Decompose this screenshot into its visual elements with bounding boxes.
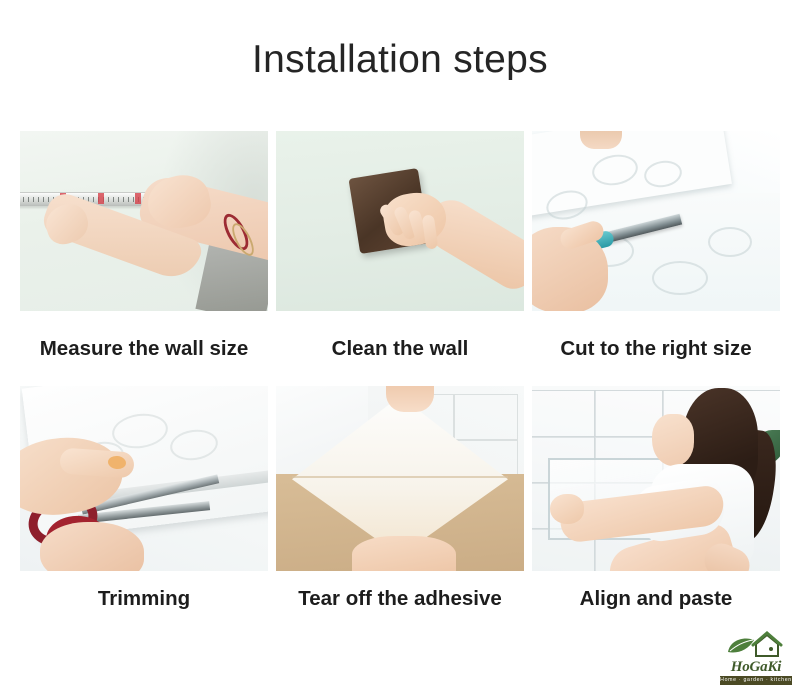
- logo-tagline: Home · garden · kitchen: [720, 676, 792, 685]
- tape-mark-3: [135, 193, 141, 204]
- step-item-5: Tear off the adhesive: [276, 386, 524, 627]
- embossed-motif-4: [652, 261, 708, 295]
- panel-fold-line: [292, 476, 508, 478]
- brand-logo[interactable]: HoGaKi Home · garden · kitchen: [720, 630, 792, 688]
- photo-cut-panel: [532, 131, 780, 311]
- tape-mark-2: [98, 193, 104, 204]
- embossed-motif-5: [708, 227, 752, 257]
- step-caption-2: Clean the wall: [276, 311, 524, 386]
- lower-hand: [40, 522, 144, 571]
- logo-wordmark: HoGaKi: [720, 660, 792, 674]
- leaf-house-icon: [720, 630, 792, 660]
- bottom-hands: [352, 536, 456, 571]
- step-item-6: Align and paste: [532, 386, 780, 627]
- step-item-2: Clean the wall: [276, 131, 524, 386]
- photo-trimming: [20, 386, 268, 571]
- wall-brick-1: [454, 394, 518, 440]
- photo-tear-adhesive: [276, 386, 524, 571]
- page-title: Installation steps: [0, 38, 800, 82]
- step-item-3: Cut to the right size: [532, 131, 780, 386]
- step-caption-6: Align and paste: [532, 571, 780, 627]
- photo-measure-wall: [20, 131, 268, 311]
- installation-steps-grid: Measure the wall size Clean the wall: [20, 131, 780, 386]
- top-hand: [386, 386, 434, 412]
- step-caption-4: Trimming: [20, 571, 268, 627]
- installation-steps-grid-row-2: Trimming Tear off the adhesive: [20, 386, 780, 627]
- step-item-4: Trimming: [20, 386, 268, 627]
- face: [652, 414, 694, 466]
- step-item-1: Measure the wall size: [20, 131, 268, 386]
- step-caption-1: Measure the wall size: [20, 311, 268, 386]
- photo-clean-wall: [276, 131, 524, 311]
- step-caption-5: Tear off the adhesive: [276, 571, 524, 627]
- step-caption-3: Cut to the right size: [532, 311, 780, 386]
- thumb-top: [580, 131, 622, 149]
- wall-brick: [532, 390, 596, 438]
- photo-align-paste: [532, 386, 780, 571]
- hand: [550, 494, 584, 524]
